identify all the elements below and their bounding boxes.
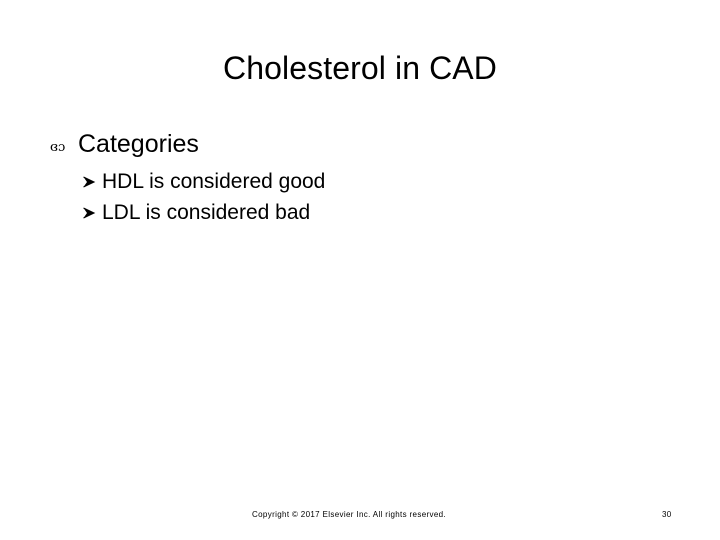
fleuron-bullet-icon: ɞɔ xyxy=(50,128,72,160)
sub-bullet-item-ldl: LDL is considered bad xyxy=(0,197,720,228)
bullet-item-categories: ɞɔ Categories xyxy=(0,128,720,160)
page-title: Cholesterol in CAD xyxy=(0,48,720,88)
arrowhead-bullet-icon xyxy=(82,166,100,197)
bullet-item-label: Categories xyxy=(78,130,199,158)
sub-bullet-item-label: LDL is considered bad xyxy=(102,201,310,224)
arrowhead-bullet-icon xyxy=(82,197,100,228)
slide-canvas: Cholesterol in CAD ɞɔ Categories HDL is … xyxy=(0,0,720,540)
sub-bullet-list: HDL is considered good LDL is considered… xyxy=(0,166,720,228)
sub-bullet-item-label: HDL is considered good xyxy=(102,170,325,193)
sub-bullet-item-hdl: HDL is considered good xyxy=(0,166,720,197)
copyright-notice: Copyright © 2017 Elsevier Inc. All right… xyxy=(252,509,446,520)
slide-body: ɞɔ Categories HDL is considered good xyxy=(0,128,720,228)
page-number: 30 xyxy=(662,509,672,520)
